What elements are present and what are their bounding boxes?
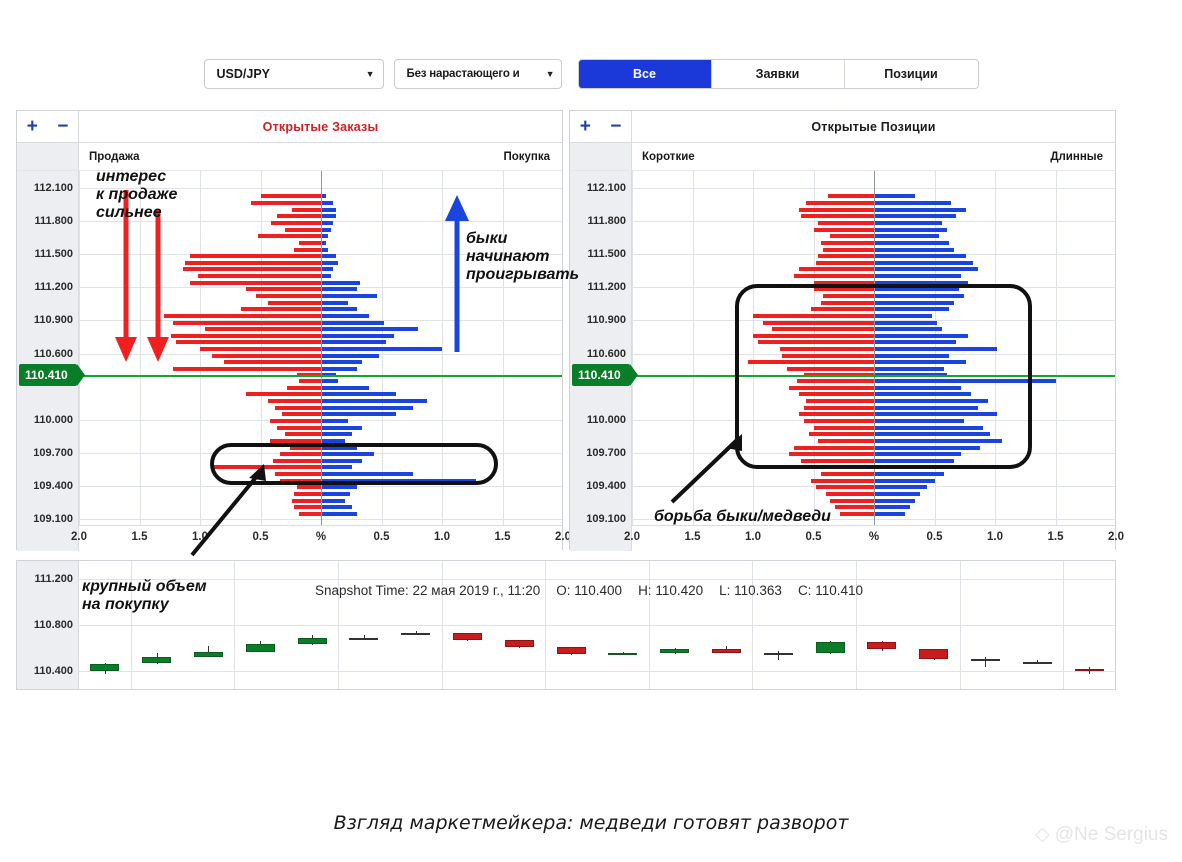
annotation-bulls-bears-fight: борьба быки/медведи <box>654 508 831 526</box>
annotation-sell-interest: интерес к продаже сильнее <box>96 168 177 222</box>
annotation-big-buy-volume: крупный объем на покупку <box>82 578 207 614</box>
annotation-arrows <box>0 0 1182 862</box>
annotation-bulls-losing: быки начинают проигрывать <box>466 230 579 284</box>
